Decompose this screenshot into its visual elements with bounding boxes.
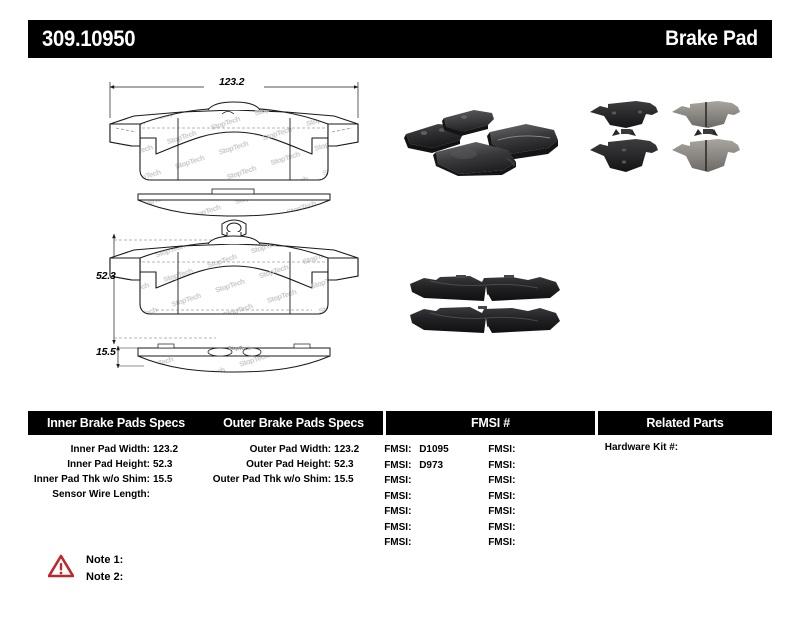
fmsi-row: FMSI: xyxy=(384,504,488,520)
notes-section: Note 1: Note 2: xyxy=(48,552,123,586)
spec-value: 15.5 xyxy=(153,472,187,487)
fmsi-value xyxy=(519,458,523,474)
table-body: Inner Pad Width: 123.2 Inner Pad Height:… xyxy=(28,442,772,551)
spec-label: Inner Pad Width: xyxy=(28,442,153,457)
fmsi-row: FMSI: xyxy=(384,535,488,551)
fmsi-value: D973 xyxy=(415,458,443,474)
outer-specs-column: Outer Pad Width: 123.2 Outer Pad Height:… xyxy=(201,442,380,551)
fmsi-row: FMSI: D973 xyxy=(384,458,488,474)
fmsi-value xyxy=(415,520,419,536)
warning-triangle-icon xyxy=(48,554,74,578)
spec-row: Sensor Wire Length: xyxy=(28,487,201,502)
fmsi-row: FMSI: xyxy=(488,458,592,474)
brake-pad-edge-view-top xyxy=(138,189,330,216)
spec-row: Outer Pad Height: 52.3 xyxy=(201,457,380,472)
fmsi-label: FMSI: xyxy=(488,520,519,536)
note-item: Note 1: xyxy=(86,552,123,569)
fmsi-label: FMSI: xyxy=(488,535,519,551)
fmsi-label: FMSI: xyxy=(488,458,519,474)
spec-row: Inner Pad Height: 52.3 xyxy=(28,457,201,472)
fmsi-value xyxy=(415,504,419,520)
fmsi-value: D1095 xyxy=(415,442,448,458)
spec-value: 52.3 xyxy=(334,457,368,472)
fmsi-row: FMSI: xyxy=(384,489,488,505)
spec-label: Outer Pad Width: xyxy=(201,442,334,457)
fmsi-row: FMSI: D1095 xyxy=(384,442,488,458)
inner-specs-column: Inner Pad Width: 123.2 Inner Pad Height:… xyxy=(28,442,201,551)
fmsi-value xyxy=(519,520,523,536)
related-part-label: Hardware Kit #: xyxy=(605,442,678,453)
svg-text:StopTech: StopTech xyxy=(228,346,250,352)
technical-drawings: StopTech xyxy=(96,72,372,382)
spec-value: 15.5 xyxy=(334,472,368,487)
table-header-inner-specs: Inner Brake Pads Specs xyxy=(28,411,204,435)
fmsi-value xyxy=(519,489,523,505)
fmsi-value xyxy=(519,504,523,520)
fmsi-label: FMSI: xyxy=(384,535,415,551)
spec-label: Sensor Wire Length: xyxy=(28,487,153,502)
specs-table: Inner Brake Pads Specs Outer Brake Pads … xyxy=(28,411,772,551)
fmsi-label: FMSI: xyxy=(488,473,519,489)
fmsi-value xyxy=(519,442,523,458)
table-header-related-parts: Related Parts xyxy=(598,411,772,435)
fmsi-row: FMSI: xyxy=(488,442,592,458)
brake-pad-front-view xyxy=(110,220,358,344)
brake-pad-pair-front-back-photo xyxy=(586,94,746,178)
header-bar: 309.10950 Brake Pad xyxy=(28,20,772,58)
fmsi-row: FMSI: xyxy=(384,473,488,489)
brake-pad-top-view xyxy=(110,82,358,180)
fmsi-label: FMSI: xyxy=(384,442,415,458)
related-parts-column: Hardware Kit #: xyxy=(593,442,772,551)
related-part-value xyxy=(678,442,682,453)
brake-pad-edge-profile-photo xyxy=(400,268,572,342)
fmsi-row: FMSI: xyxy=(488,535,592,551)
spec-label: Outer Pad Height: xyxy=(201,457,334,472)
spec-label: Outer Pad Thk w/o Shim: xyxy=(201,472,334,487)
note-list: Note 1: Note 2: xyxy=(86,552,123,586)
brake-pad-edge-view: StopTech xyxy=(118,344,330,372)
fmsi-row: FMSI: xyxy=(384,520,488,536)
fmsi-row: FMSI: xyxy=(488,473,592,489)
note-item: Note 2: xyxy=(86,569,123,586)
fmsi-label: FMSI: xyxy=(384,458,415,474)
part-number: 309.10950 xyxy=(42,26,135,52)
fmsi-value xyxy=(519,473,523,489)
brake-pad-set-angled-photo xyxy=(398,96,568,176)
page-title: Brake Pad xyxy=(665,27,758,51)
fmsi-subcolumn-right: FMSI: FMSI: FMSI: FMSI: xyxy=(488,442,592,551)
brake-pad-spec-sheet: 309.10950 Brake Pad StopTech xyxy=(0,0,800,619)
table-header-outer-specs: Outer Brake Pads Specs xyxy=(204,411,383,435)
table-header-row: Inner Brake Pads Specs Outer Brake Pads … xyxy=(28,411,772,435)
fmsi-value xyxy=(415,535,419,551)
fmsi-label: FMSI: xyxy=(384,489,415,505)
dimension-label-height: 52.3 xyxy=(96,270,116,282)
fmsi-subcolumn-left: FMSI: D1095 FMSI: D973 FMSI: FMSI: xyxy=(384,442,488,551)
fmsi-label: FMSI: xyxy=(488,489,519,505)
spec-row: Outer Pad Thk w/o Shim: 15.5 xyxy=(201,472,380,487)
spec-label: Inner Pad Thk w/o Shim: xyxy=(28,472,153,487)
related-part-row: Hardware Kit #: xyxy=(605,442,772,453)
fmsi-label: FMSI: xyxy=(384,473,415,489)
spec-row: Inner Pad Width: 123.2 xyxy=(28,442,201,457)
dimension-label-width: 123.2 xyxy=(219,76,244,88)
fmsi-row: FMSI: xyxy=(488,520,592,536)
fmsi-label: FMSI: xyxy=(488,442,519,458)
spec-value: 123.2 xyxy=(153,442,187,457)
fmsi-column: FMSI: D1095 FMSI: D973 FMSI: FMSI: xyxy=(380,442,593,551)
fmsi-label: FMSI: xyxy=(384,504,415,520)
spec-label: Inner Pad Height: xyxy=(28,457,153,472)
spec-value: 123.2 xyxy=(334,442,368,457)
dimension-label-thickness: 15.5 xyxy=(96,346,116,358)
fmsi-row: FMSI: xyxy=(488,489,592,505)
table-header-fmsi: FMSI # xyxy=(386,411,595,435)
fmsi-value xyxy=(415,489,419,505)
fmsi-row: FMSI: xyxy=(488,504,592,520)
spec-row: Outer Pad Width: 123.2 xyxy=(201,442,380,457)
fmsi-value xyxy=(415,473,419,489)
fmsi-label: FMSI: xyxy=(488,504,519,520)
spec-value: 52.3 xyxy=(153,457,187,472)
fmsi-value xyxy=(519,535,523,551)
spec-value xyxy=(153,487,187,502)
fmsi-label: FMSI: xyxy=(384,520,415,536)
spec-row: Inner Pad Thk w/o Shim: 15.5 xyxy=(28,472,201,487)
